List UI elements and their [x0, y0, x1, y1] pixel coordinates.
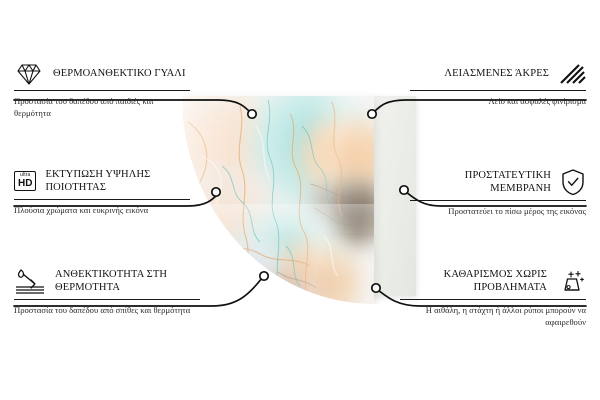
feature-divider [14, 199, 190, 200]
feature-title: ΚΑΘΑΡΙΣΜΟΣ ΧΩΡΙΣ ΠΡΟΒΛΗΜΑΤΑ [400, 268, 547, 295]
diagonal-stripes-icon [558, 62, 586, 86]
feature-divider [14, 90, 190, 91]
sponge-sparkle-icon [556, 268, 586, 294]
ultra-hd-icon: ultra HD [14, 171, 36, 191]
connector-node [400, 186, 408, 194]
feature-divider [14, 299, 200, 300]
connector-node [248, 110, 256, 118]
shield-check-icon [560, 168, 586, 196]
feature-title: ΠΡΟΣΤΑΤΕΥΤΙΚΗ ΜΕΜΒΡΑΝΗ [410, 169, 551, 196]
feature-title: ΑΝΘΕΚΤΙΚΟΤΗΤΑ ΣΤΗ ΘΕΡΜΟΤΗΤΑ [55, 268, 200, 295]
connector-node [372, 284, 380, 292]
feature-description: Λείο και ασφαλές φινίρισμα [410, 96, 586, 108]
feature-description: Προστατεύει το πίσω μέρος της εικόνας [410, 206, 586, 218]
connector-node [212, 188, 220, 196]
feature-title: ΘΕΡΜΟΑΝΘΕΚΤΙΚΟ ΓΥΑΛΙ [53, 67, 186, 80]
feature-divider [410, 90, 586, 91]
feature-heat-durability: ΑΝΘΕΚΤΙΚΟΤΗΤΑ ΣΤΗ ΘΕΡΜΟΤΗΤΑ Προστασία το… [14, 268, 200, 317]
connector-node [260, 272, 268, 280]
feature-high-quality-print: ultra HD ΕΚΤΥΠΩΣΗ ΥΨΗΛΗΣ ΠΟΙΟΤΗΤΑΣ Πλούσ… [14, 168, 190, 217]
feature-title: ΕΚΤΥΠΩΣΗ ΥΨΗΛΗΣ ΠΟΙΟΤΗΤΑΣ [45, 168, 190, 195]
feature-description: Προστασία του δαπέδου από παιδιές και θε… [14, 96, 190, 120]
diamond-icon [14, 62, 44, 86]
connector-node [368, 110, 376, 118]
feature-protective-membrane: ΠΡΟΣΤΑΤΕΥΤΙΚΗ ΜΕΜΒΡΑΝΗ Προστατεύει το πί… [410, 168, 586, 218]
feature-divider [410, 200, 586, 201]
flame-surface-icon [14, 268, 46, 294]
feature-description: Η αιθάλη, η στάχτη ή άλλοι ρύποι μπορούν… [400, 305, 586, 329]
feature-polished-edges: ΛΕΙΑΣΜΕΝΕΣ ΆΚΡΕΣ Λείο και ασφαλές φινίρι… [410, 62, 586, 108]
feature-divider [400, 299, 586, 300]
infographic-stage: ΘΕΡΜΟΑΝΘΕΚΤΙΚΟ ΓΥΑΛΙ Προστασία του δαπέδ… [0, 0, 600, 400]
feature-description: Πλούσια χρώματα και ευκρινής εικόνα [14, 205, 190, 217]
feature-description: Προστασία του δαπέδου από σπίθες και θερ… [14, 305, 200, 317]
feature-heat-resistant-glass: ΘΕΡΜΟΑΝΘΕΚΤΙΚΟ ΓΥΑΛΙ Προστασία του δαπέδ… [14, 62, 190, 120]
ultra-hd-large-label: HD [18, 179, 32, 189]
feature-easy-cleaning: ΚΑΘΑΡΙΣΜΟΣ ΧΩΡΙΣ ΠΡΟΒΛΗΜΑΤΑ Η αιθάλη, η … [400, 268, 586, 329]
feature-title: ΛΕΙΑΣΜΕΝΕΣ ΆΚΡΕΣ [444, 67, 549, 80]
